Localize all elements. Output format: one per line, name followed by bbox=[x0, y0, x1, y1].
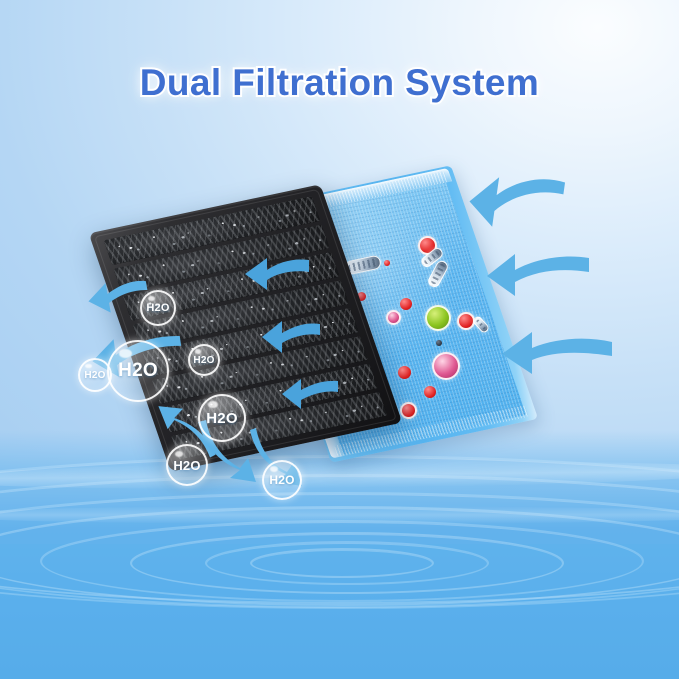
transfer-flow-arrow bbox=[262, 318, 322, 356]
product-illustration: H2O H2O H2O H2O H2O H2O H2O bbox=[0, 150, 679, 500]
h2o-bubble: H2O bbox=[78, 358, 112, 392]
h2o-bubble: H2O bbox=[198, 394, 246, 442]
h2o-bubble: H2O bbox=[166, 444, 208, 486]
transfer-flow-arrow bbox=[245, 254, 311, 294]
steps-section: 1 2 3 Filter sediment & impurities. keep… bbox=[0, 545, 679, 679]
h2o-bubble: H2O bbox=[107, 340, 169, 402]
h2o-bubble: H2O bbox=[188, 344, 220, 376]
inlet-flow-arrow bbox=[470, 170, 564, 232]
inlet-flow-arrow bbox=[487, 248, 591, 300]
h2o-bubble: H2O bbox=[140, 290, 176, 326]
h2o-bubble: H2O bbox=[262, 460, 302, 500]
infographic-canvas: Dual Filtration System bbox=[0, 0, 679, 679]
inlet-flow-arrow bbox=[502, 328, 614, 378]
transfer-flow-arrow bbox=[282, 376, 340, 412]
page-title: Dual Filtration System bbox=[0, 62, 679, 104]
